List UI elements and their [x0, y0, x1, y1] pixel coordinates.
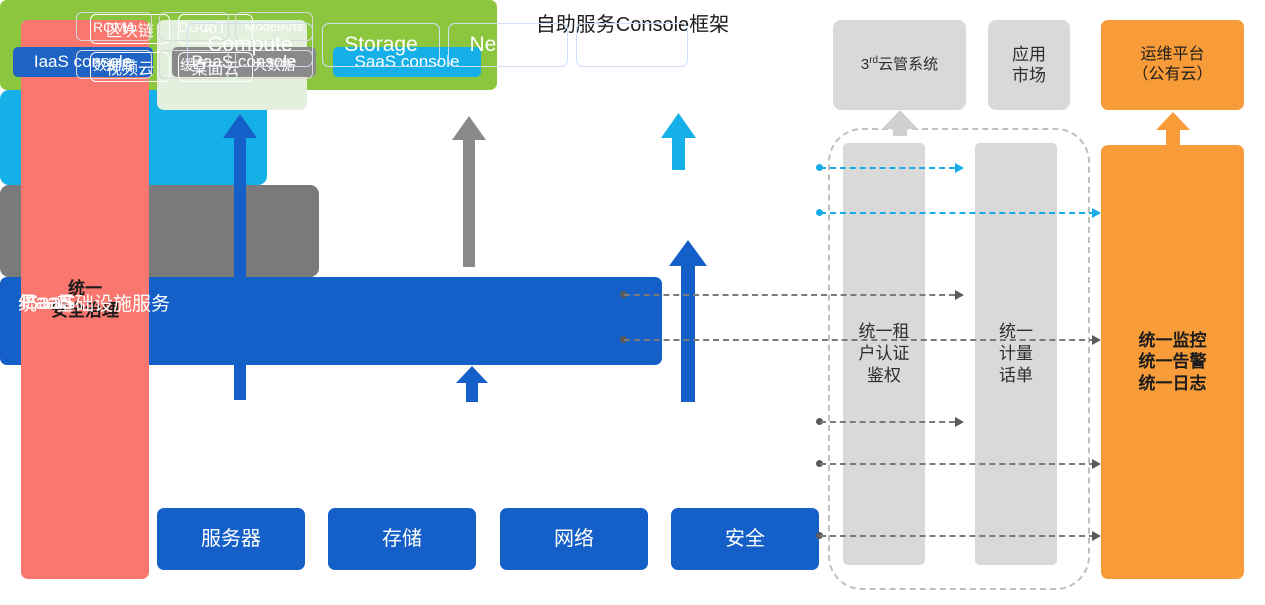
- connector-paas-to-ops: [624, 339, 1095, 341]
- hardware-box-network[interactable]: 网络: [500, 508, 648, 570]
- iaas-chip-cce[interactable]: CCE: [576, 23, 688, 67]
- ops-top-line-1: 运维平台: [1132, 45, 1212, 65]
- ops-main-line-3: 统一日志: [1139, 373, 1207, 394]
- app-market-box: 应用 市场: [988, 20, 1070, 110]
- connector-arrowhead-iaas-auth: [955, 417, 964, 427]
- architecture-diagram: 统一 安全治理 API网关 自助服务Console框架 IaaS console…: [0, 0, 1265, 605]
- ops-platform-public-cloud-box: 运维平台 （公有云）: [1101, 20, 1244, 110]
- connector-arrowhead-paas-ops: [1092, 335, 1101, 345]
- third-party-label: 3rd云管系统: [861, 55, 938, 75]
- ops-main-line-2: 统一告警: [1139, 351, 1207, 372]
- auth-line-3: 鉴权: [859, 365, 910, 387]
- arrow-iaas-to-paas: [456, 366, 488, 402]
- connector-arrowhead-paas-auth: [955, 290, 964, 300]
- arrow-paas-to-console: [452, 116, 486, 267]
- connector-arrowhead-saas-ops: [1092, 208, 1101, 218]
- connector-saas-to-ops: [820, 212, 1095, 214]
- billing-line-2: 计量: [999, 343, 1033, 365]
- connector-arrowhead-hardware-ops: [1092, 531, 1101, 541]
- connector-paas-to-auth: [624, 294, 955, 296]
- iaas-chip-network[interactable]: Network: [448, 23, 568, 67]
- ops-main-line-1: 统一监控: [1139, 330, 1207, 351]
- connector-hardware-to-ops: [820, 535, 1095, 537]
- connector-iaas-to-auth: [820, 421, 955, 423]
- hardware-box-security[interactable]: 安全: [671, 508, 819, 570]
- third-party-cloud-mgmt-box: 3rd云管系统: [833, 20, 966, 110]
- iaas-label: 统一基础设施服务: [18, 0, 170, 605]
- unified-tenant-auth-column: 统一租 户认证 鉴权: [843, 143, 925, 565]
- hardware-box-storage[interactable]: 存储: [328, 508, 476, 570]
- arrow-iaas-to-saas: [669, 240, 707, 402]
- connector-arrowhead-iaas-ops: [1092, 459, 1101, 469]
- iaas-chip-compute[interactable]: Compute: [187, 23, 313, 67]
- billing-line-3: 话单: [999, 365, 1033, 387]
- arrow-saas-to-console: [661, 113, 696, 170]
- hardware-box-server[interactable]: 服务器: [157, 508, 305, 570]
- arrow-ops-main-to-ops-top: [1156, 112, 1190, 145]
- unified-infrastructure-service-bar: 统一基础设施服务 Compute Storage Network CCE: [0, 277, 662, 365]
- app-market-line-2: 市场: [1012, 65, 1046, 86]
- unified-monitoring-panel: 统一监控 统一告警 统一日志: [1101, 145, 1244, 579]
- auth-line-2: 户认证: [859, 343, 910, 365]
- connector-saas-to-auth: [820, 167, 955, 169]
- unified-metering-billing-column: 统一 计量 话单: [975, 143, 1057, 565]
- app-market-line-1: 应用: [1012, 44, 1046, 65]
- iaas-chip-storage[interactable]: Storage: [322, 23, 440, 67]
- ops-top-line-2: （公有云）: [1132, 65, 1212, 85]
- connector-arrowhead-saas-auth: [955, 163, 964, 173]
- connector-iaas-to-ops: [820, 463, 1095, 465]
